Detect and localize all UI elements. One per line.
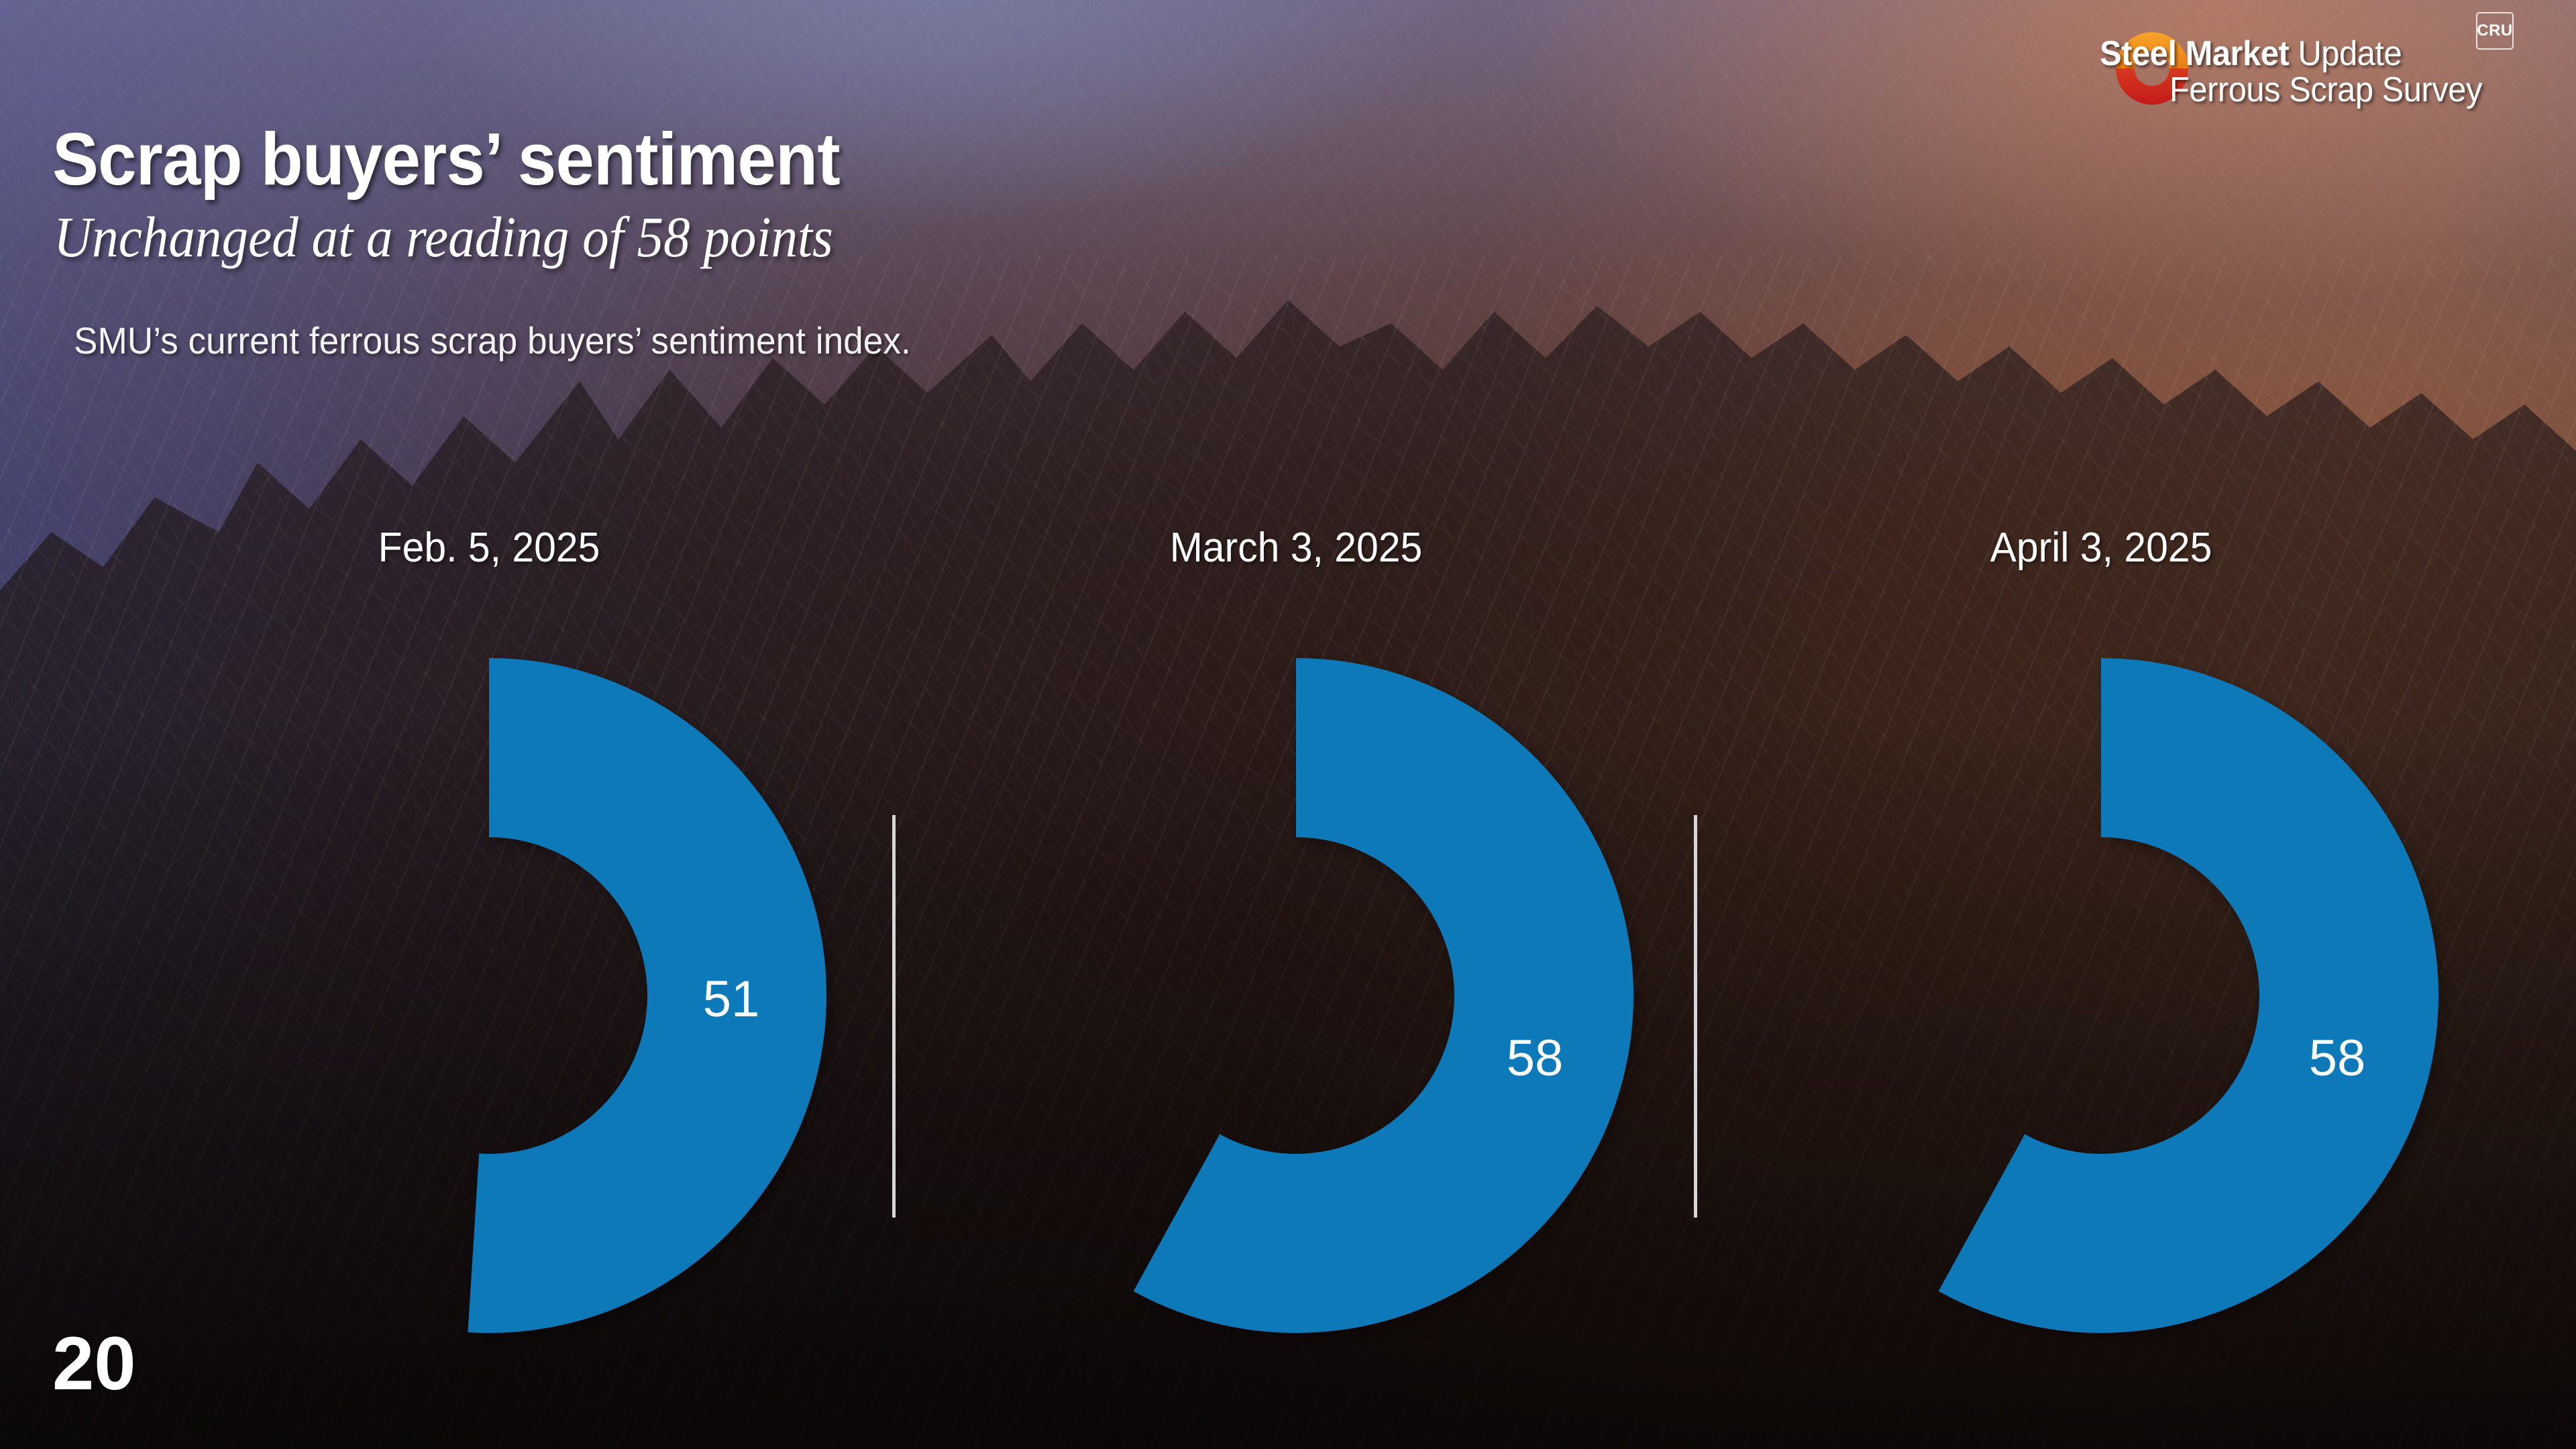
donut-arc-3 (1939, 658, 2438, 1333)
date-label-3: April 3, 2025 (1990, 527, 2212, 569)
page-number: 20 (52, 1326, 136, 1401)
donut-arc-1 (468, 658, 826, 1333)
donut-arc-2 (1134, 658, 1633, 1333)
value-label-3: 58 (2309, 1033, 2366, 1084)
column-divider-2 (1694, 815, 1697, 1218)
sentiment-donut-chart: Feb. 5, 2025 March 3, 2025 April 3, 2025… (0, 0, 2576, 1449)
date-label-1: Feb. 5, 2025 (378, 527, 600, 569)
value-label-2: 58 (1507, 1033, 1564, 1084)
value-label-1: 51 (703, 974, 760, 1025)
slide-canvas: Scrap buyers’ sentiment Unchanged at a r… (0, 0, 2576, 1449)
date-label-2: March 3, 2025 (1170, 527, 1423, 569)
column-divider-1 (892, 815, 896, 1218)
donut-arcs-svg (0, 0, 2576, 1449)
